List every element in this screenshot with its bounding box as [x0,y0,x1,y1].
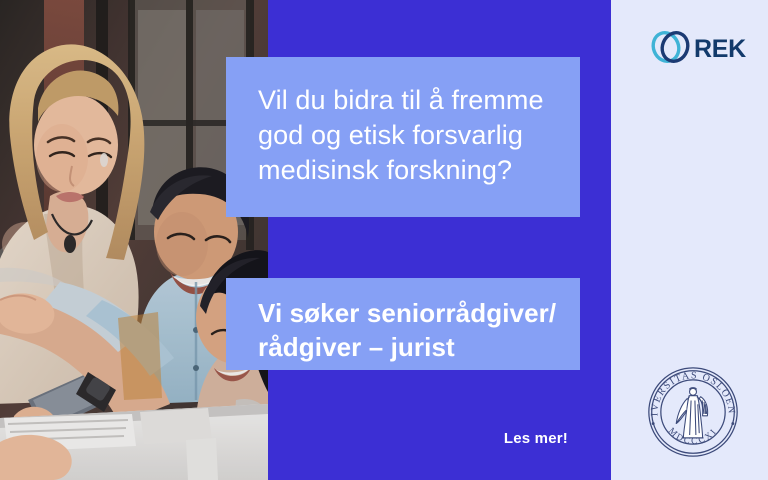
headline-position-box: Vi søker seniorrådgiver/ rådgiver – juri… [226,278,580,370]
rek-wordmark: REK [694,37,746,62]
read-more-link[interactable]: Les mer! [380,430,568,447]
recruitment-banner: Vil du bidra til å fremme god og etisk f… [0,0,768,480]
rek-logo: REK [650,26,740,72]
headline-position-text: Vi søker seniorrådgiver/ rådgiver – juri… [258,296,558,364]
rek-rings-icon [650,26,692,73]
uio-seal: UNIVERSITAS OSLOENSIS MDCCCXI [645,364,741,460]
headline-question-text: Vil du bidra til å fremme god og etisk f… [258,83,558,188]
headline-question-box: Vil du bidra til å fremme god og etisk f… [226,57,580,217]
